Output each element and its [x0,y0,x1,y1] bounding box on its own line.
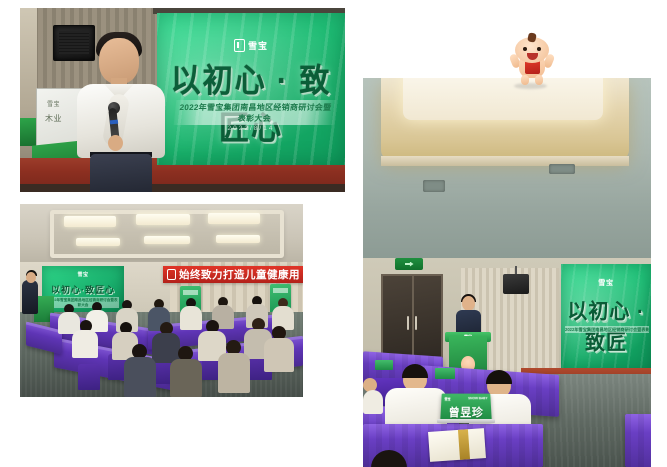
mascot-shadow [514,83,547,89]
ceiling-vent [423,180,445,192]
mascot-eye-left [523,47,527,51]
hall-photo[interactable]: 雪宝 以初心 · 致匠 2022年雪宝集团南昌地区经销商研讨会暨表彰大会 雪宝 [363,78,651,467]
green-panel-left [20,118,36,146]
projection-screen-right: 雪宝 以初心 · 致匠 2022年雪宝集团南昌地区经销商研讨会暨表彰大会 [561,264,651,374]
ceiling-cove-lip [381,156,629,166]
ceiling-speaker-icon [503,274,529,294]
ceiling-light [136,214,190,225]
podium-speaker-head [462,296,475,311]
bracket-logo-icon [234,39,245,52]
presenter-body [22,280,38,314]
collage-canvas: 雪宝 木业 雪宝 以初心 · 致匠心 2022年雪宝集团南昌地区经销商研讨会暨表… [0,0,667,467]
name-card-header: 雪宝 SNOW BABY [444,395,487,401]
mascot-eye-right [537,47,541,51]
name-card-small [375,360,393,370]
speaker-hand [108,135,123,151]
door-handle[interactable] [407,316,409,330]
slide-headline-right: 以初心 · 致匠 [561,294,651,355]
attendee-body [363,390,383,414]
banner-text: 始终致力打造儿童健康用 [179,267,300,282]
name-card-name: 曾昱珍 [440,404,491,420]
ceiling-vent [549,164,575,174]
ceiling-light [144,236,190,244]
chair [78,364,100,390]
red-banner: 始终致力打造儿童健康用 [163,266,303,283]
table-skirt-folds [625,414,651,467]
ceiling-light-panel [403,78,603,120]
slide-subtitle-small: 2022年雪宝集团南昌地区经销商研讨会暨表彰大会 [47,297,119,308]
mascot-leg-right [535,75,543,85]
slide-logo: 雪宝 [234,39,268,52]
name-card-brand-right: SNOW BABY [468,396,488,400]
speaker-person [68,32,178,192]
speaker-trousers [90,154,152,192]
baby-mascot-icon [508,36,556,86]
attendee-body [170,359,202,397]
booklet-band [458,429,470,460]
attendee-body [124,357,156,397]
whiteboard-writing-2: 木业 [45,113,62,124]
ceiling-light [216,235,260,243]
presenter-head [26,272,36,283]
door-split [412,276,414,362]
slide-logo-text-small: 雪宝 [42,271,124,278]
name-card-small [435,368,455,379]
ceiling-light [208,213,260,224]
exit-sign-icon [395,258,423,270]
slide-date: 2022/8/14 [157,125,345,132]
ceiling-light [64,216,116,227]
hall-door [381,274,443,364]
slide-headline-small: 以初心·致匠心 [42,283,124,296]
slide-subtitle: 2022年雪宝集团南昌地区经销商研讨会暨表彰大会 [174,100,337,125]
mascot-leg-left [521,75,529,85]
microphone-band [110,120,118,125]
slide-subtitle-right: 2022年雪宝集团南昌地区经销商研讨会暨表彰大会 [565,326,649,333]
slide-logo-text: 雪宝 [248,39,268,52]
conference-table [625,414,651,467]
bracket-logo-icon [167,269,176,280]
projection-screen-small: 雪宝 以初心·致匠心 2022年雪宝集团南昌地区经销商研讨会暨表彰大会 [42,266,124,312]
name-card-brand-left: 雪宝 [444,396,450,401]
booklet [428,428,486,462]
name-card: 雪宝 SNOW BABY 曾昱珍 [440,394,492,422]
projection-screen: 雪宝 以初心 · 致匠心 2022年雪宝集团南昌地区经销商研讨会暨表彰大会 20… [157,13,345,165]
speaker-photo[interactable]: 雪宝 木业 雪宝 以初心 · 致匠心 2022年雪宝集团南昌地区经销商研讨会暨表… [20,8,345,192]
audience-photo[interactable]: 雪宝 以初心·致匠心 2022年雪宝集团南昌地区经销商研讨会暨表彰大会 始终致力… [20,204,303,397]
slide-logo-text-right: 雪宝 [561,278,651,288]
name-card-stand [437,419,495,423]
attendee-body [72,330,98,358]
door-handle[interactable] [415,316,417,330]
attendee-body [180,306,202,330]
ceiling-light [76,238,120,246]
whiteboard-writing: 雪宝 [47,99,60,108]
attendee-body [218,353,250,393]
attendee-body [264,338,294,372]
